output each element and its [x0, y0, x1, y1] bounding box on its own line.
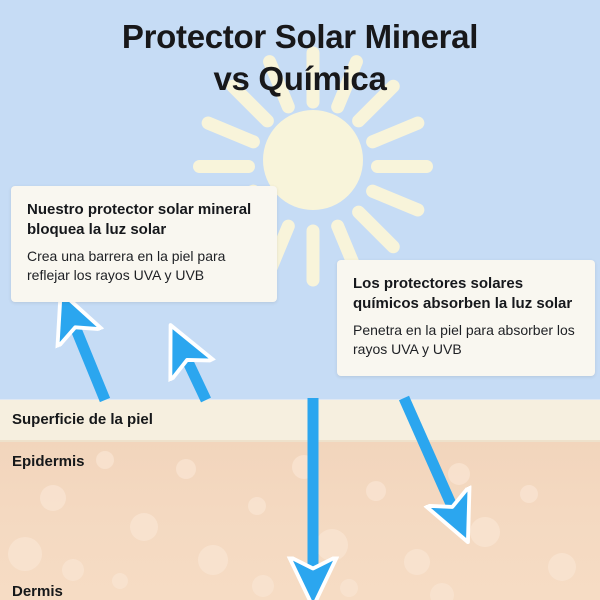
callout-mineral-body: Crea una barrera en la piel para refleja… — [27, 247, 261, 286]
callout-chemical: Los protectores solares químicos absorbe… — [337, 260, 595, 376]
arrow-reflect-left — [69, 312, 105, 400]
callout-chemical-body: Penetra en la piel para absorber los ray… — [353, 321, 579, 360]
callout-mineral: Nuestro protector solar mineral bloquea … — [11, 186, 277, 302]
arrow-reflect-right — [180, 345, 206, 400]
infographic-canvas: Protector Solar Mineral vs Química Nuest… — [0, 0, 600, 600]
arrow-absorb-diagonal — [404, 398, 459, 522]
label-epidermis: Epidermis — [12, 453, 85, 470]
label-skin-surface: Superficie de la piel — [12, 411, 153, 428]
callout-mineral-heading: Nuestro protector solar mineral bloquea … — [27, 200, 261, 240]
page-title: Protector Solar Mineral vs Química — [0, 16, 600, 100]
label-dermis: Dermis — [12, 583, 63, 600]
title-line-2: vs Química — [0, 58, 600, 100]
callout-chemical-heading: Los protectores solares químicos absorbe… — [353, 274, 579, 314]
title-line-1: Protector Solar Mineral — [0, 16, 600, 58]
